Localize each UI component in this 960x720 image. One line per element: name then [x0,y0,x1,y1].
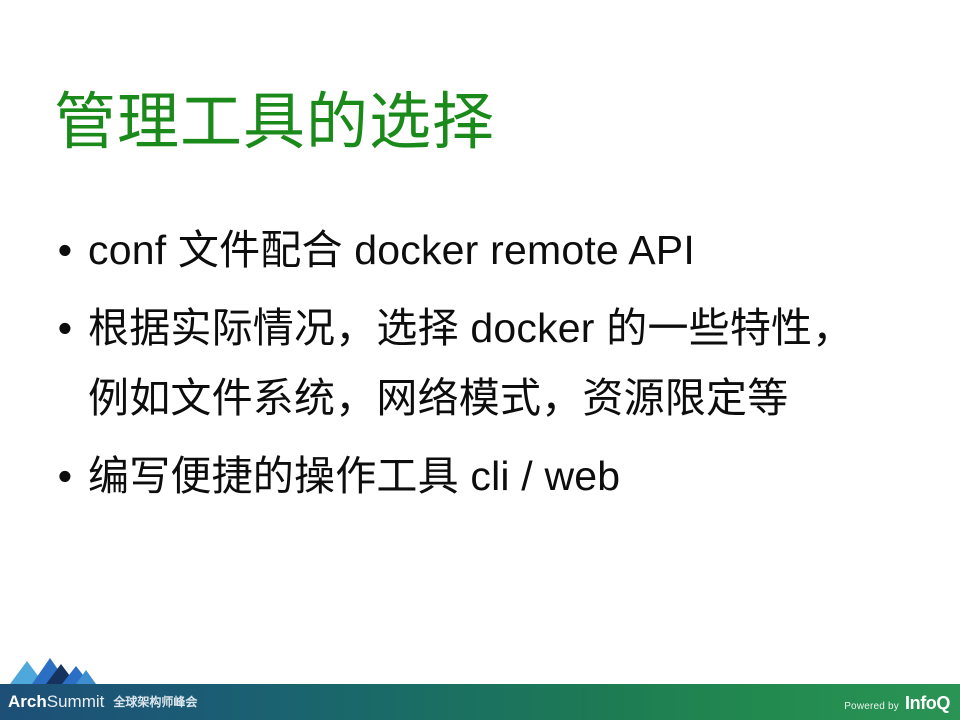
bullet-marker-icon: • [55,441,75,511]
list-item-line: conf 文件配合 docker remote API [88,215,930,285]
bullet-list: • conf 文件配合 docker remote API • 根据实际情况，选… [50,215,930,519]
slide-canvas: 管理工具的选择 • conf 文件配合 docker remote API • … [0,0,960,720]
footer-brand: ArchSummit全球架构师峰会 [8,692,197,713]
powered-by-infoq: Powered by InfoQ [844,693,950,714]
powered-by-label: Powered by [844,701,899,712]
list-item-line: 根据实际情况，选择 docker 的一些特性， [88,293,930,363]
list-item: • 根据实际情况，选择 docker 的一些特性， 例如文件系统，网络模式，资源… [50,293,930,433]
list-item: • conf 文件配合 docker remote API [50,215,930,285]
slide-footer: ArchSummit全球架构师峰会 Powered by InfoQ [0,684,960,720]
bullet-marker-icon: • [55,293,75,363]
bullet-marker-icon: • [55,215,75,285]
list-item-line: 编写便捷的操作工具 cli / web [88,441,930,511]
list-item-line: 例如文件系统，网络模式，资源限定等 [88,363,930,433]
infoq-logo-text: InfoQ [905,693,950,714]
page-title: 管理工具的选择 [54,84,894,162]
footer-brand-arch: Arch [8,692,47,711]
footer-brand-chinese: 全球架构师峰会 [113,695,197,709]
archsummit-mountain-logo-icon [6,658,110,684]
list-item: • 编写便捷的操作工具 cli / web [50,441,930,511]
footer-brand-summit: Summit [47,692,105,711]
